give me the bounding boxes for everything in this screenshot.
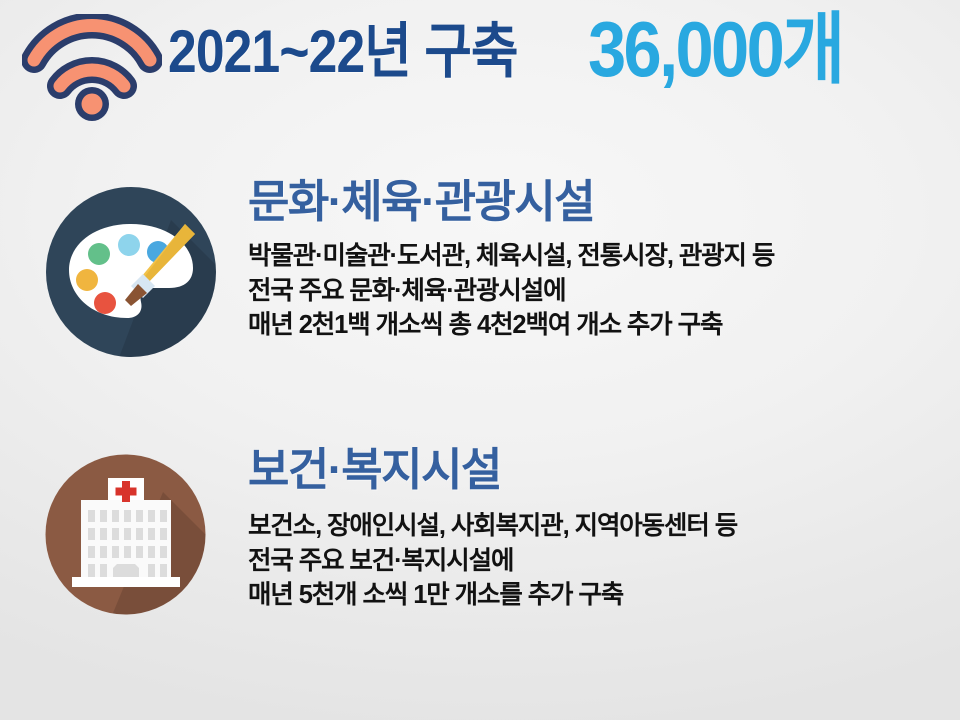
header-number: 36,000개 (588, 10, 843, 88)
section-culture-body: 문화·체육·관광시설 박물관·미술관·도서관, 체육시설, 전통시장, 관광지 … (248, 178, 948, 343)
section-culture-heading: 문화·체육·관광시설 (248, 178, 948, 227)
section-culture-line-2: 전국 주요 문화·체육·관광시설에 (248, 274, 948, 309)
section-welfare-line-1: 보건소, 장애인시설, 사회복지관, 지역아동센터 등 (248, 509, 948, 544)
section-welfare-lines: 보건소, 장애인시설, 사회복지관, 지역아동센터 등 전국 주요 보건·복지시… (248, 509, 948, 614)
section-culture-line-3: 매년 2천1백 개소씩 총 4천2백여 개소 추가 구축 (248, 308, 948, 343)
section-welfare-heading: 보건·복지시설 (248, 446, 948, 495)
section-culture-line-1: 박물관·미술관·도서관, 체육시설, 전통시장, 관광지 등 (248, 239, 948, 274)
paint-palette-icon (43, 184, 219, 360)
wifi-icon (22, 14, 162, 122)
section-culture-lines: 박물관·미술관·도서관, 체육시설, 전통시장, 관광지 등 전국 주요 문화·… (248, 239, 948, 344)
section-culture: 문화·체육·관광시설 박물관·미술관·도서관, 체육시설, 전통시장, 관광지 … (0, 178, 960, 428)
section-welfare: 보건·복지시설 보건소, 장애인시설, 사회복지관, 지역아동센터 등 전국 주… (0, 446, 960, 696)
header-title: 2021~22년 구축 (168, 22, 518, 82)
section-welfare-body: 보건·복지시설 보건소, 장애인시설, 사회복지관, 지역아동센터 등 전국 주… (248, 446, 948, 613)
header: 2021~22년 구축 36,000개 (0, 0, 960, 130)
hospital-icon (43, 452, 208, 617)
section-welfare-line-3: 매년 5천개 소씩 1만 개소를 추가 구축 (248, 578, 948, 613)
section-welfare-line-2: 전국 주요 보건·복지시설에 (248, 544, 948, 579)
infographic-poster: 2021~22년 구축 36,000개 (0, 0, 960, 720)
